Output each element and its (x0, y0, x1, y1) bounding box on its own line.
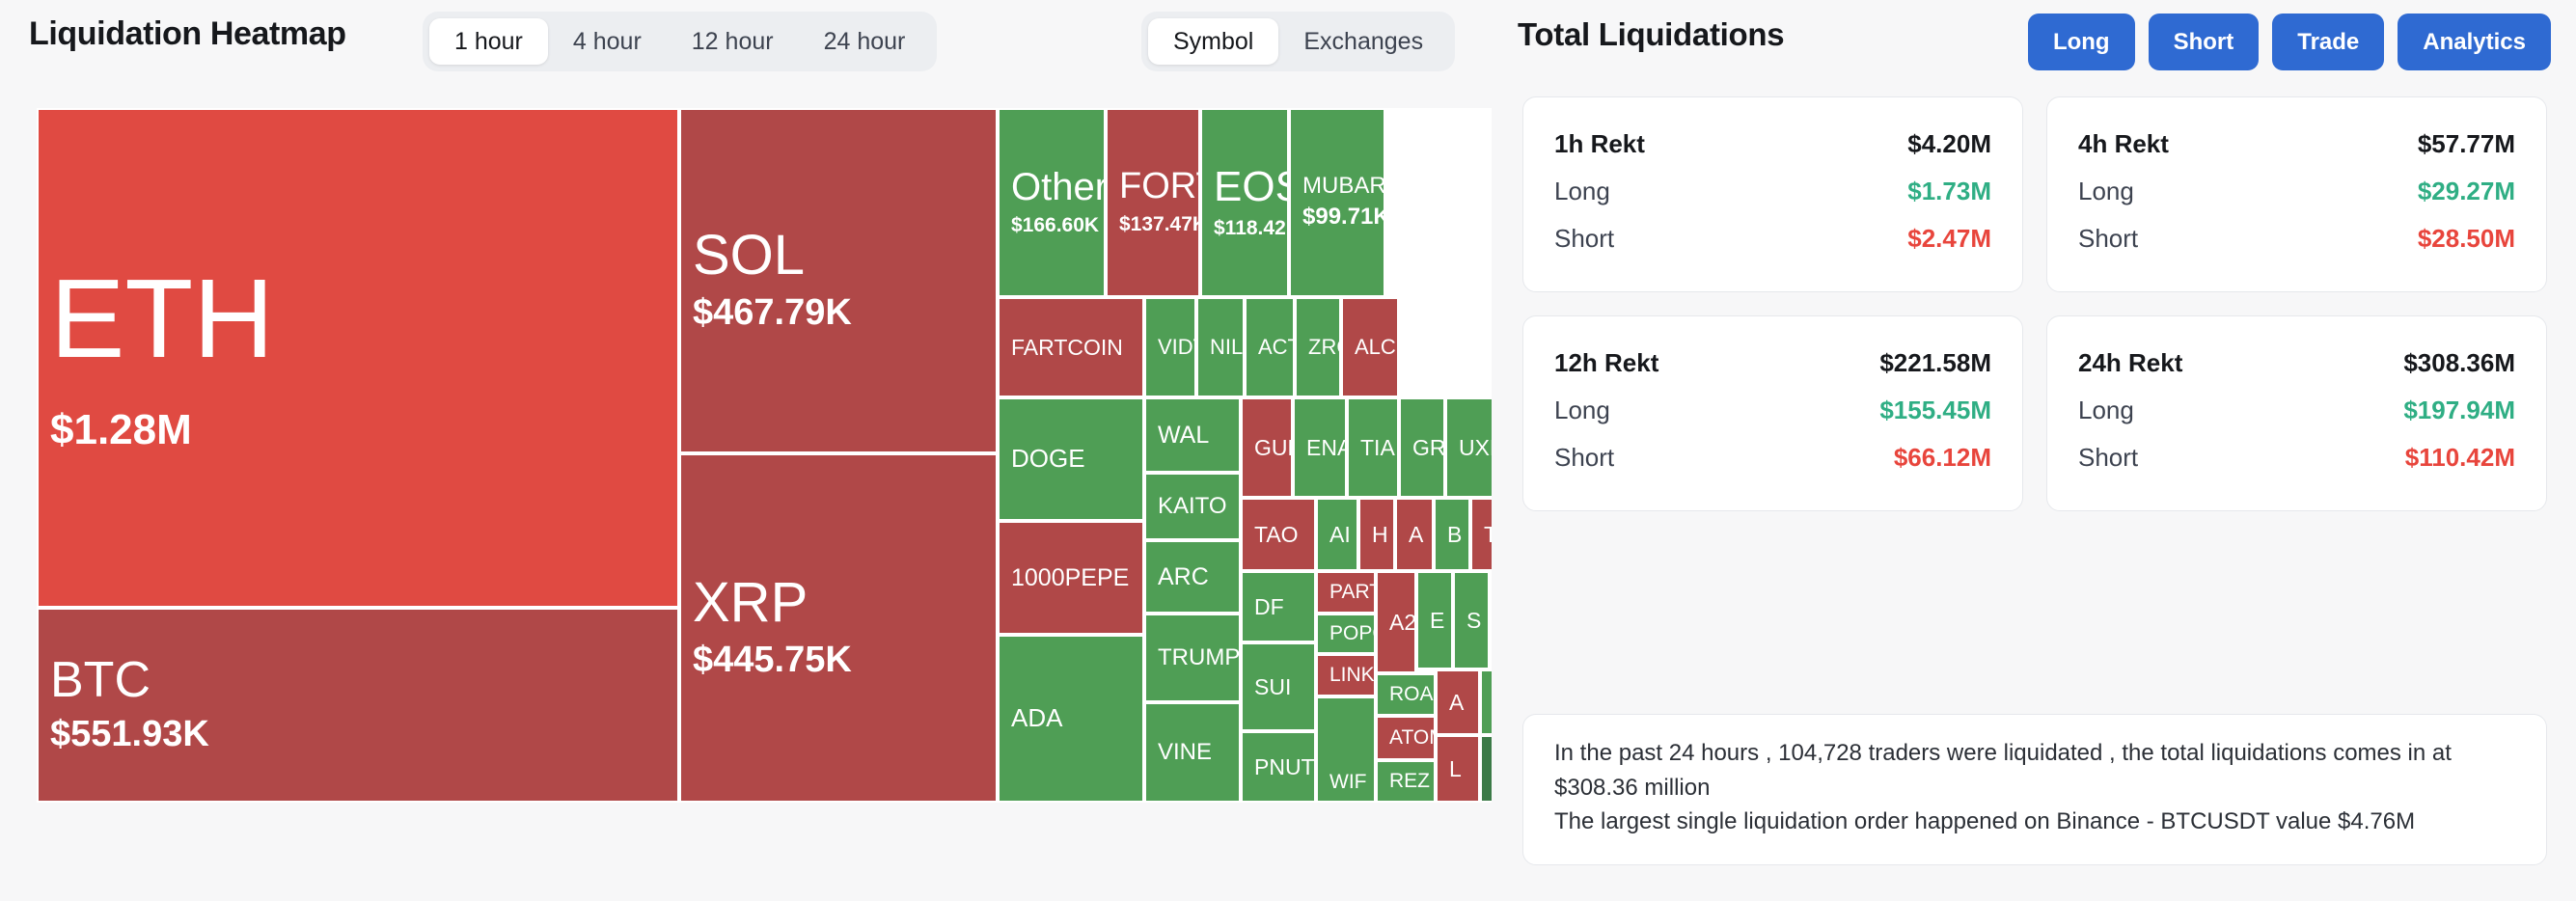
card-total-value: $308.36M (2403, 348, 2515, 378)
timeframe-1-hour[interactable]: 1 hour (429, 18, 548, 65)
tile-symbol: 1000PEPE (1011, 565, 1131, 590)
treemap-tile-tao[interactable]: TAO (1241, 498, 1316, 571)
card-short-label: Short (1554, 443, 1614, 473)
tile-symbol: A2 (1389, 611, 1403, 634)
tile-symbol: MUBARAK (1302, 174, 1372, 198)
total-liquidations-title: Total Liquidations (1518, 16, 1784, 53)
tile-symbol: UXLINK (1459, 436, 1492, 459)
card-label: 4h Rekt (2078, 129, 2169, 159)
tile-value: $118.42K (1214, 216, 1275, 240)
card-total-row: 24h Rekt $308.36M (2078, 340, 2515, 387)
card-total-value: $57.77M (2418, 129, 2515, 159)
liquidation-treemap[interactable]: ETH $1.28M BTC $551.93K SOL $467.79K XRP… (37, 108, 1492, 803)
card-short-value: $2.47M (1907, 224, 1991, 254)
tile-symbol: PNUT (1254, 755, 1302, 778)
card-long-value: $155.45M (1879, 396, 1991, 425)
tile-symbol: VINE (1158, 740, 1227, 764)
treemap-tile-h[interactable]: H (1358, 498, 1395, 571)
rekt-card-4h[interactable]: 4h Rekt $57.77M Long $29.27M Short $28.5… (2046, 96, 2547, 292)
tile-symbol: TRUMP (1158, 645, 1227, 669)
treemap-tile-arc[interactable]: ARC (1144, 540, 1241, 614)
header: Liquidation Heatmap 1 hour 4 hour 12 hou… (0, 0, 2576, 93)
tile-symbol: DOGE (1011, 446, 1131, 472)
card-total-row: 4h Rekt $57.77M (2078, 121, 2515, 168)
treemap-tile-alch[interactable]: ALCH (1341, 297, 1399, 397)
tile-symbol: Others (1011, 167, 1092, 207)
rekt-card-24h[interactable]: 24h Rekt $308.36M Long $197.94M Short $1… (2046, 315, 2547, 511)
treemap-tile-uxlink[interactable]: UXLINK (1445, 397, 1492, 498)
card-short-label: Short (1554, 224, 1614, 254)
treemap-tile-a[interactable]: A (1395, 498, 1434, 571)
tile-symbol: REZ (1389, 771, 1422, 792)
rekt-card-12h[interactable]: 12h Rekt $221.58M Long $155.45M Short $6… (1522, 315, 2023, 511)
tile-symbol: A (1409, 523, 1420, 546)
tile-symbol: H (1372, 523, 1382, 546)
tile-symbol: TIA (1360, 436, 1385, 459)
tile-symbol: ACT (1258, 336, 1281, 358)
card-label: 1h Rekt (1554, 129, 1645, 159)
tile-value: $467.79K (693, 291, 984, 336)
tile-symbol: SUI (1254, 675, 1302, 698)
treemap-tile-t[interactable]: T (1470, 498, 1492, 571)
tile-symbol: XRP (693, 574, 984, 633)
treemap-tile-a3[interactable]: A (1436, 669, 1480, 735)
treemap-tile-zro[interactable]: ZRO (1295, 297, 1341, 397)
grouping-symbol[interactable]: Symbol (1148, 18, 1278, 65)
treemap-tile-xrp[interactable]: XRP $445.75K (679, 453, 998, 803)
summary-line-2: The largest single liquidation order hap… (1554, 805, 2515, 839)
card-total-row: 12h Rekt $221.58M (1554, 340, 1991, 387)
treemap-tile-popcat[interactable]: POPCAT (1316, 614, 1376, 654)
tile-symbol: EOS (1214, 165, 1275, 209)
grouping-segmented-control[interactable]: Symbol Exchanges (1141, 12, 1455, 71)
treemap-tile-mubarak[interactable]: MUBARAK $99.71K (1289, 108, 1385, 297)
treemap-tile-gun[interactable]: GUN (1241, 397, 1293, 498)
tile-value: $551.93K (50, 713, 666, 757)
summary-panel: In the past 24 hours , 104,728 traders w… (1522, 714, 2547, 865)
treemap-tile-act[interactable]: ACT (1245, 297, 1295, 397)
card-label: 24h Rekt (2078, 348, 2182, 378)
tile-symbol: ARC (1158, 564, 1227, 589)
tile-symbol: E (1430, 609, 1439, 632)
card-short-row: Short $28.50M (2078, 215, 2515, 262)
tile-symbol: BTC (50, 654, 666, 707)
tile-symbol: AI (1329, 523, 1345, 546)
treemap-tile-eth[interactable]: ETH $1.28M (37, 108, 679, 608)
card-total-value: $221.58M (1879, 348, 1991, 378)
treemap-tile-a2[interactable]: A2 (1376, 571, 1416, 673)
treemap-tile-u[interactable]: U (1480, 735, 1492, 803)
header-actions: Long Short Trade Analytics (2028, 14, 2551, 70)
card-long-label: Long (2078, 177, 2134, 206)
card-long-value: $197.94M (2403, 396, 2515, 425)
card-long-value: $29.27M (2418, 177, 2515, 206)
card-label: 12h Rekt (1554, 348, 1658, 378)
tile-symbol: POPCAT (1329, 623, 1362, 644)
short-button[interactable]: Short (2149, 14, 2260, 70)
tile-symbol: ROAM (1389, 684, 1422, 705)
treemap-tile-v[interactable]: V (1490, 571, 1492, 669)
card-total-row: 1h Rekt $4.20M (1554, 121, 1991, 168)
tile-symbol: L (1449, 757, 1466, 780)
analytics-button[interactable]: Analytics (2398, 14, 2551, 70)
tile-symbol: SOL (693, 227, 984, 286)
card-long-row: Long $1.73M (1554, 168, 1991, 215)
tile-symbol: B (1447, 523, 1457, 546)
treemap-tile-doge[interactable]: DOGE (998, 397, 1144, 521)
card-short-value: $66.12M (1894, 443, 1991, 473)
treemap-tile-grt[interactable]: GRT (1399, 397, 1445, 498)
tile-symbol: A (1449, 691, 1466, 714)
treemap-tile-link[interactable]: LINK (1316, 654, 1376, 696)
treemap-tile-btc[interactable]: BTC $551.93K (37, 608, 679, 803)
tile-symbol: T (1484, 523, 1492, 546)
tile-symbol: GUN (1254, 436, 1279, 459)
treemap-tile-rez[interactable]: REZ (1376, 760, 1436, 803)
card-total-value: $4.20M (1907, 129, 1991, 159)
tile-symbol: WAL (1158, 423, 1227, 448)
treemap-tile-wif[interactable]: WIF (1316, 696, 1376, 803)
tile-symbol: S (1466, 609, 1476, 632)
card-short-label: Short (2078, 443, 2138, 473)
liquidation-heatmap-app: Liquidation Heatmap 1 hour 4 hour 12 hou… (0, 0, 2576, 901)
tile-value: $445.75K (693, 639, 984, 683)
treemap-tile-tia[interactable]: TIA (1347, 397, 1399, 498)
trade-button[interactable]: Trade (2272, 14, 2384, 70)
tile-symbol: FORTH (1119, 168, 1187, 206)
treemap-tile-fartcoin[interactable]: FARTCOIN (998, 297, 1144, 397)
tile-symbol: ETH (50, 260, 666, 378)
timeframe-4-hour[interactable]: 4 hour (548, 18, 667, 65)
treemap-tile-nil[interactable]: NIL (1196, 297, 1245, 397)
card-long-label: Long (1554, 177, 1610, 206)
rekt-card-1h[interactable]: 1h Rekt $4.20M Long $1.73M Short $2.47M (1522, 96, 2023, 292)
tile-symbol: ATOM (1389, 727, 1422, 749)
page-title: Liquidation Heatmap (29, 15, 346, 53)
timeframe-24-hour[interactable]: 24 hour (799, 18, 931, 65)
card-long-value: $1.73M (1907, 177, 1991, 206)
treemap-tile-ena[interactable]: ENA (1293, 397, 1347, 498)
treemap-tile-roam[interactable]: ROAM (1376, 673, 1436, 716)
treemap-tile-kaito[interactable]: KAITO (1144, 473, 1241, 540)
treemap-tile-sol[interactable]: SOL $467.79K (679, 108, 998, 453)
treemap-tile-wal[interactable]: WAL (1144, 397, 1241, 473)
tile-symbol: ADA (1011, 705, 1131, 731)
tile-symbol: TAO (1254, 523, 1302, 546)
card-long-row: Long $155.45M (1554, 387, 1991, 434)
treemap-tile-l[interactable]: L (1436, 735, 1480, 803)
tile-symbol: KAITO (1158, 494, 1227, 518)
card-long-row: Long $29.27M (2078, 168, 2515, 215)
summary-line-1: In the past 24 hours , 104,728 traders w… (1554, 736, 2515, 805)
treemap-tile-atom[interactable]: ATOM (1376, 716, 1436, 760)
treemap-tile-b[interactable]: B (1434, 498, 1470, 571)
treemap-tile-eos[interactable]: EOS $118.42K (1200, 108, 1289, 297)
tile-symbol: WIF (1329, 772, 1362, 793)
tile-symbol: ALCH (1355, 336, 1385, 358)
treemap-tile-vidt[interactable]: VIDT (1144, 297, 1196, 397)
treemap-tile-1000pepe[interactable]: 1000PEPE (998, 521, 1144, 635)
card-short-label: Short (2078, 224, 2138, 254)
treemap-tile-others[interactable]: Others $166.60K (998, 108, 1106, 297)
tile-symbol: DF (1254, 595, 1302, 618)
grouping-exchanges[interactable]: Exchanges (1278, 18, 1448, 65)
treemap-tile-trump[interactable]: TRUMP (1144, 614, 1241, 702)
tile-symbol: ZRO (1308, 336, 1328, 358)
treemap-tile-ada[interactable]: ADA (998, 635, 1144, 803)
tile-symbol: VIDT (1158, 336, 1183, 358)
tile-symbol: ENA (1306, 436, 1333, 459)
tile-value: $166.60K (1011, 213, 1092, 237)
timeframe-12-hour[interactable]: 12 hour (667, 18, 799, 65)
treemap-tile-e[interactable]: E (1416, 571, 1453, 669)
treemap-tile-pnut[interactable]: PNUT (1241, 731, 1316, 803)
long-button[interactable]: Long (2028, 14, 2135, 70)
card-short-row: Short $66.12M (1554, 434, 1991, 481)
timeframe-segmented-control[interactable]: 1 hour 4 hour 12 hour 24 hour (423, 12, 937, 71)
card-short-value: $110.42M (2405, 443, 2515, 473)
treemap-tile-vine[interactable]: VINE (1144, 702, 1241, 803)
card-long-label: Long (1554, 396, 1610, 425)
card-short-row: Short $110.42M (2078, 434, 2515, 481)
card-short-value: $28.50M (2418, 224, 2515, 254)
treemap-tile-b2[interactable]: B2 (1480, 669, 1492, 735)
tile-symbol: NIL (1210, 336, 1231, 358)
tile-value: $137.47K (1119, 212, 1187, 236)
tile-value: $1.28M (50, 405, 666, 456)
tile-symbol: LINK (1329, 665, 1362, 686)
tile-value: $99.71K (1302, 204, 1372, 232)
treemap-tile-df[interactable]: DF (1241, 571, 1316, 642)
card-short-row: Short $2.47M (1554, 215, 1991, 262)
treemap-tile-parti[interactable]: PARTI (1316, 571, 1376, 614)
treemap-tile-forth[interactable]: FORTH $137.47K (1106, 108, 1200, 297)
tile-symbol: FARTCOIN (1011, 336, 1131, 359)
tile-symbol: GRT (1412, 436, 1432, 459)
rekt-cards: 1h Rekt $4.20M Long $1.73M Short $2.47M … (1522, 96, 2547, 511)
tile-symbol: PARTI (1329, 582, 1362, 603)
treemap-tile-ai[interactable]: AI (1316, 498, 1358, 571)
treemap-tile-sui[interactable]: SUI (1241, 642, 1316, 731)
treemap-tile-s[interactable]: S (1453, 571, 1490, 669)
card-long-row: Long $197.94M (2078, 387, 2515, 434)
card-long-label: Long (2078, 396, 2134, 425)
